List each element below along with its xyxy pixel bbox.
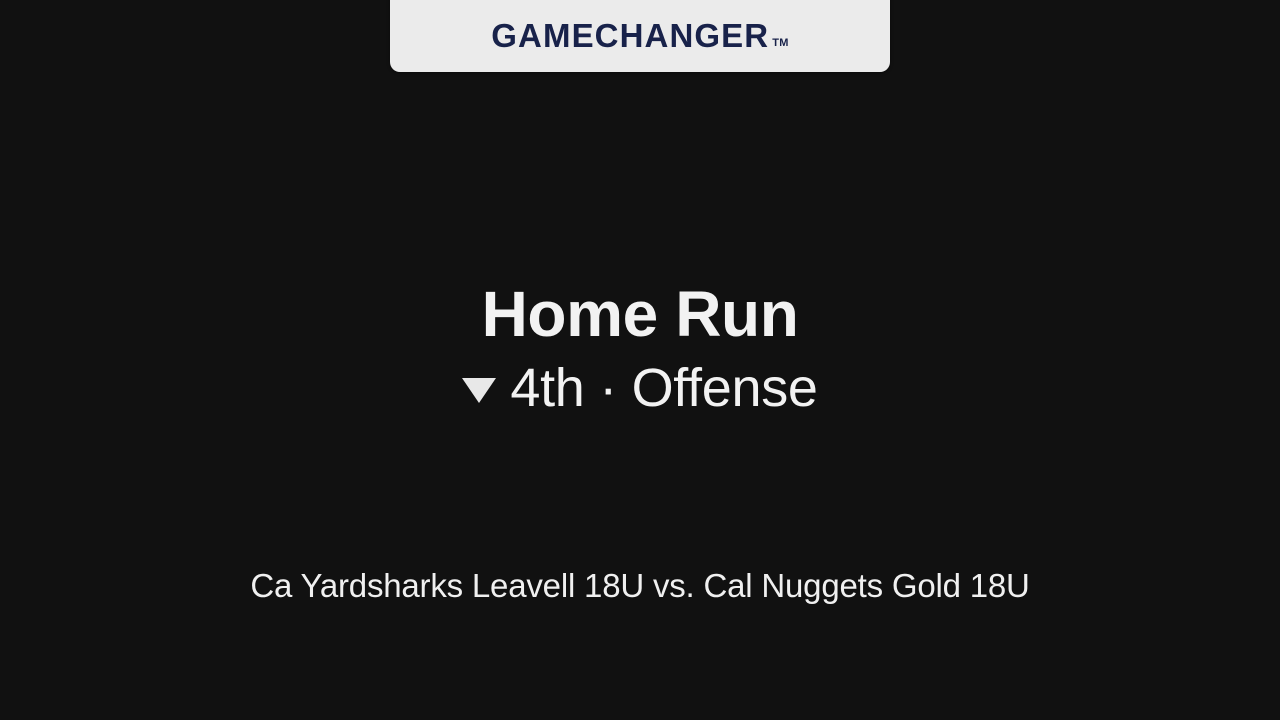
trademark-icon: TM — [772, 38, 788, 49]
brand-banner: GAMECHANGER TM — [390, 0, 890, 72]
inning-and-side-label: 4th · Offense — [510, 361, 817, 415]
brand-wordmark: GAMECHANGER — [491, 19, 769, 52]
matchup-label: Ca Yardsharks Leavell 18U vs. Cal Nugget… — [0, 566, 1280, 606]
play-title: Home Run — [0, 282, 1280, 347]
triangle-down-icon — [462, 378, 496, 403]
gamechanger-logo: GAMECHANGER TM — [491, 19, 788, 52]
play-summary: Home Run 4th · Offense — [0, 282, 1280, 415]
play-context: 4th · Offense — [0, 361, 1280, 415]
